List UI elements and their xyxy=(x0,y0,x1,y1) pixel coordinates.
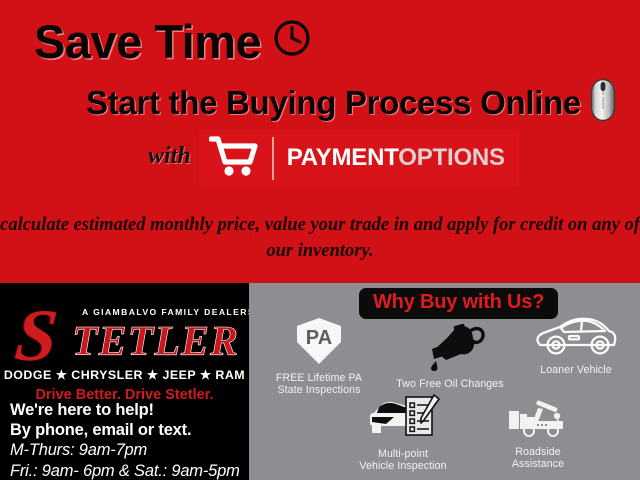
with-label: with xyxy=(148,143,191,174)
hours-weekend: Fri.: 9am- 6pm & Sat.: 9am-5pm xyxy=(10,461,250,480)
dealer-family-tagline: A GIAMBALVO FAMILY DEALERSHIP xyxy=(82,307,273,317)
feature-loaner-vehicle: Loaner Vehicle xyxy=(515,315,637,376)
headline-start-buying: Start the Buying Process Online xyxy=(86,78,616,127)
stetler-logo-initial: S xyxy=(12,299,61,373)
wordmark-options: OPTIONS xyxy=(398,144,505,171)
dealer-info-panel: A GIAMBALVO FAMILY DEALERSHIP S TETLER D… xyxy=(0,283,249,480)
payment-options-badge: PAYMENTOPTIONS xyxy=(199,130,519,186)
feature-pa-inspections: PA FREE Lifetime PA State Inspections xyxy=(257,317,381,397)
feature-oil-changes: Two Free Oil Changes xyxy=(377,323,523,390)
feature-label-line1: Multi-point xyxy=(329,448,477,461)
feature-label-line2: Vehicle Inspection xyxy=(329,460,477,473)
feature-multipoint-inspection: Multi-point Vehicle Inspection xyxy=(329,393,477,473)
headline-save-time-text: Save Time xyxy=(34,18,261,65)
pa-keystone-icon: PA xyxy=(257,317,381,369)
pa-badge-text: PA xyxy=(306,327,333,349)
wordmark-payment: PAYMENT xyxy=(287,144,399,171)
clock-icon xyxy=(272,18,312,65)
feature-label-line1: Loaner Vehicle xyxy=(515,364,637,377)
payment-options-logo: with PAYMENTOPTIONS xyxy=(148,130,519,186)
mouse-icon xyxy=(590,78,616,127)
headline-start-buying-text: Start the Buying Process Online xyxy=(86,86,581,119)
why-buy-panel: Why Buy with Us? PA FREE Lifetime PA Sta… xyxy=(249,283,640,480)
payment-options-wordmark: PAYMENTOPTIONS xyxy=(287,144,505,172)
stetler-logo: A GIAMBALVO FAMILY DEALERSHIP S TETLER D… xyxy=(0,287,249,387)
top-promo-panel: Save Time Start the Buying Process Onlin… xyxy=(0,0,640,283)
feature-label-line1: FREE Lifetime PA xyxy=(257,372,381,385)
feature-label-line2: Assistance xyxy=(477,458,599,471)
hours-weekday: M-Thurs: 9am-7pm xyxy=(10,440,250,461)
promo-subcopy: calculate estimated monthly price, value… xyxy=(0,212,640,264)
contact-methods: By phone, email or text. xyxy=(10,420,250,440)
dealer-brands: DODGE ★ CHRYSLER ★ JEEP ★ RAM xyxy=(0,367,249,382)
oil-can-icon xyxy=(377,323,523,375)
feature-label-line1: Roadside xyxy=(477,446,599,459)
headline-save-time: Save Time xyxy=(34,18,312,65)
advertisement-banner: Save Time Start the Buying Process Onlin… xyxy=(0,0,640,480)
dealer-contact-block: We're here to help! By phone, email or t… xyxy=(10,400,250,480)
shopping-cart-icon xyxy=(209,134,259,183)
logo-divider xyxy=(272,137,274,180)
contact-headline: We're here to help! xyxy=(10,400,250,420)
stetler-logo-name: TETLER xyxy=(72,321,239,363)
feature-roadside-assistance: Roadside Assistance xyxy=(477,395,599,471)
tow-truck-icon xyxy=(477,395,599,443)
feature-label-line1: Two Free Oil Changes xyxy=(377,378,523,391)
inspection-clipboard-icon xyxy=(329,393,477,445)
car-icon xyxy=(515,315,637,361)
